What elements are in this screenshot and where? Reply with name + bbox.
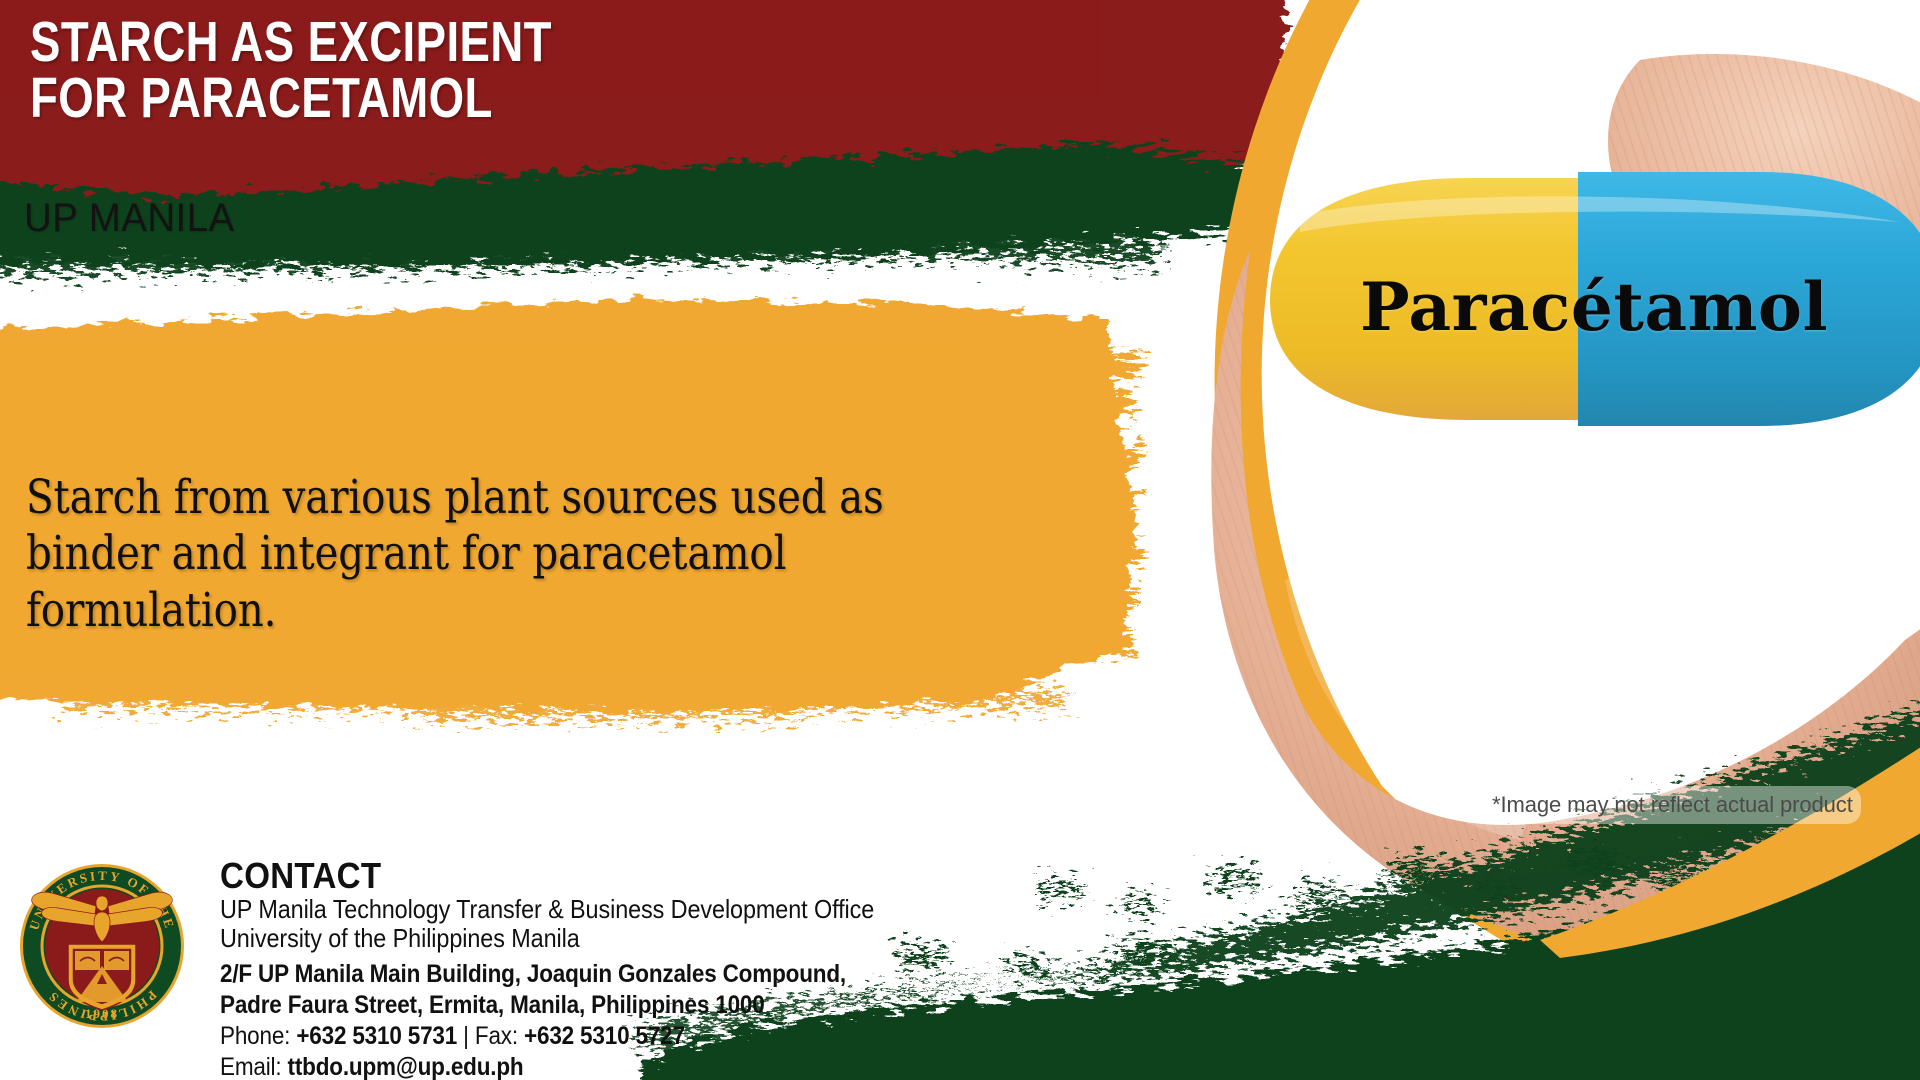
capsule-photo	[1211, 54, 1920, 1012]
poster-canvas: STARCH AS EXCIPIENT FOR PARACETAMOL UP M…	[0, 0, 1920, 1080]
fax-value: +632 5310 5727	[524, 1022, 685, 1050]
disclaimer-text: *Image may not reflect actual product	[1492, 792, 1853, 818]
contact-heading: CONTACT	[220, 858, 1011, 894]
organization-label: UP MANILA	[24, 196, 235, 241]
finger-lower	[1211, 250, 1920, 1012]
contact-phone-fax-row: Phone: +632 5310 5731 | Fax: +632 5310 5…	[220, 1021, 994, 1052]
phone-fax-separator: |	[463, 1022, 469, 1050]
page-title: STARCH AS EXCIPIENT FOR PARACETAMOL	[30, 14, 950, 127]
contact-office-line-2: University of the Philippines Manila	[220, 924, 994, 952]
contact-block: CONTACT UP Manila Technology Transfer & …	[220, 858, 1080, 1080]
seal-shield	[68, 944, 136, 1010]
contact-email-row: Email: ttbdo.upm@up.edu.ph	[220, 1052, 994, 1080]
description-text: Starch from various plant sources used a…	[26, 470, 938, 639]
orange-arc-ring	[1215, 0, 1920, 1030]
orange-crescent	[1540, 700, 1920, 958]
capsule-product-label: Paracétamol	[1360, 268, 1828, 346]
contact-office-line-1: UP Manila Technology Transfer & Business…	[220, 895, 994, 923]
disclaimer-container: *Image may not reflect actual product	[1484, 786, 1861, 824]
phone-label: Phone:	[220, 1022, 290, 1050]
capsule-highlight	[1300, 196, 1900, 232]
phone-value[interactable]: +632 5310 5731	[296, 1022, 457, 1050]
email-value[interactable]: ttbdo.upm@up.edu.ph	[288, 1053, 524, 1080]
fax-label: Fax:	[475, 1022, 518, 1050]
contact-address: 2/F UP Manila Main Building, Joaquin Gon…	[220, 959, 994, 1021]
up-manila-seal: UNIVERSITY OF THE PHILIPPINES 1908	[18, 862, 186, 1030]
email-label: Email:	[220, 1053, 281, 1080]
